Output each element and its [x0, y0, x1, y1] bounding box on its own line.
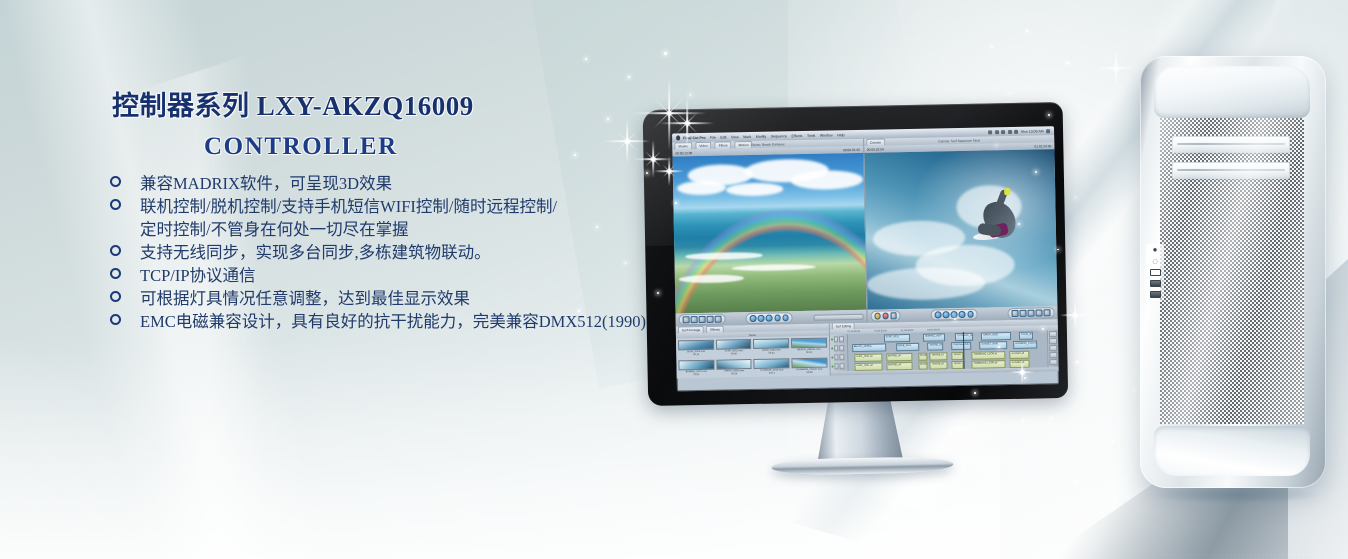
timeline-clip[interactable]: CUTBACK_0019 — [955, 333, 973, 341]
viewer-image-beach-rainbow — [672, 153, 865, 314]
menu-item-tools[interactable]: Tools — [807, 133, 815, 137]
grille-sheen — [1160, 118, 1304, 424]
clip-thumbnail[interactable] — [791, 338, 827, 349]
menu-item-file[interactable]: File — [710, 135, 716, 139]
record-button[interactable] — [882, 313, 889, 320]
track-lock-icon[interactable] — [834, 364, 839, 369]
list-item[interactable]: RAINBOW_COAST.mov 00:28 — [791, 358, 827, 377]
canvas-timecode-right[interactable]: 01:01:24:00 — [1034, 144, 1051, 148]
track-lock-icon[interactable] — [834, 346, 839, 351]
mac-pro-tower: ✹ ◌ — [1140, 56, 1326, 488]
viewer-edit-buttons[interactable] — [679, 314, 726, 325]
timeline-clip[interactable]: SURF_0031.aif — [854, 363, 882, 372]
timeline-clip[interactable]: SUNSET_0088 — [979, 341, 1007, 350]
timeline-clip[interactable]: SURF_0031 — [884, 334, 910, 342]
add-edit-button[interactable] — [1028, 310, 1035, 317]
list-item[interactable]: SURF_0012.mov 00:14 — [678, 340, 714, 359]
viewer-timecode-left[interactable]: 00:00:12:08 — [675, 151, 692, 155]
timeline-clip[interactable]: SHORE_0076 — [928, 342, 944, 350]
track-audible-icon[interactable] — [831, 356, 833, 358]
timeline-clip[interactable]: AMBIENCE_LOOP.aif — [972, 351, 1006, 360]
menu-item-view[interactable]: View — [731, 135, 739, 139]
track-target-icon[interactable] — [840, 355, 845, 360]
list-item[interactable]: SPRAY_0055.mov 00:06 — [716, 359, 752, 378]
list-item[interactable]: BEACH_AERIAL.mov 00:31 — [791, 338, 827, 357]
canvas-edit-buttons[interactable] — [1007, 307, 1054, 318]
menu-item-modify[interactable]: Modify — [756, 134, 767, 138]
airport-icon[interactable] — [1008, 129, 1012, 133]
menu-item-effects[interactable]: Effects — [791, 134, 802, 138]
clip-thumbnail[interactable] — [791, 358, 827, 369]
track-header-v2[interactable] — [830, 335, 847, 343]
monitor-stand-neck — [816, 399, 903, 463]
track-target-icon[interactable] — [840, 364, 845, 369]
viewer-pane: Viewer Video Filters Motion Viewer: Beac… — [672, 139, 866, 327]
bullet-circle-icon — [110, 176, 121, 187]
usb-icon[interactable] — [1150, 269, 1161, 276]
bullet-circle-icon — [110, 291, 121, 302]
timeline-clip[interactable]: WAVE — [918, 353, 928, 361]
bullet-circle-icon — [110, 314, 121, 325]
tab-viewer[interactable]: Viewer — [674, 142, 692, 149]
timeline-clip[interactable]: SUNSET.aif — [1010, 360, 1030, 368]
bluetooth-icon[interactable] — [988, 130, 992, 134]
previous-edit-button[interactable] — [750, 315, 757, 322]
clip-duration: 00:31 — [791, 351, 827, 355]
apple-logo-icon[interactable] — [676, 135, 680, 140]
mark-out-button[interactable] — [715, 316, 722, 323]
tower-front-grille — [1160, 118, 1304, 424]
audio-in-icon[interactable] — [1150, 291, 1161, 298]
canvas-playback-buttons[interactable] — [931, 309, 978, 320]
clip-thumbnail[interactable] — [716, 359, 752, 370]
ruler-mark: 01:00:00:00 — [848, 330, 861, 333]
timeline-clip[interactable]: FOAM_0042 — [1019, 332, 1033, 340]
headphone-icon[interactable] — [1150, 280, 1161, 287]
menu-item-edit[interactable]: Edit — [720, 135, 726, 139]
timeline-clip[interactable]: SPRAY — [952, 361, 964, 369]
add-edit-button[interactable] — [699, 316, 706, 323]
menu-item-help[interactable]: Help — [837, 133, 844, 137]
timeline-clip[interactable]: BARREL.aif — [886, 362, 912, 370]
menu-item-mark[interactable]: Mark — [743, 134, 751, 138]
track-lock-icon[interactable] — [834, 355, 839, 360]
clip-thumbnail[interactable] — [678, 340, 714, 351]
canvas-marker-buttons[interactable] — [870, 310, 901, 321]
mark-in-button[interactable] — [707, 316, 714, 323]
play-around-button[interactable] — [774, 315, 781, 322]
track-header-a1[interactable] — [830, 353, 847, 361]
mark-out-button[interactable] — [1044, 309, 1051, 316]
clip-thumbnail[interactable] — [792, 378, 828, 379]
bullet-circle-icon — [110, 199, 121, 210]
mark-in-button[interactable] — [1036, 310, 1043, 317]
usb-icon[interactable]: ◌ — [1151, 258, 1160, 265]
clip-thumbnail[interactable] — [678, 360, 714, 371]
browser-timeline-row: Surf Footage Effects Name SURF_0012.mov … — [676, 319, 1059, 378]
volume-icon[interactable] — [1001, 130, 1005, 134]
play-in-to-out-button[interactable] — [943, 311, 950, 318]
add-marker-button[interactable] — [874, 313, 881, 320]
timeline-clip[interactable]: BARREL.aif — [886, 353, 912, 361]
viewer-title: Viewer: Beach Rainbow — [751, 142, 785, 147]
viewer-playback-buttons[interactable] — [746, 312, 793, 323]
list-item[interactable]: BARREL_0007.mov 00:11 — [678, 360, 714, 379]
clip-overlays-toggle[interactable] — [1049, 338, 1057, 344]
track-header-gutter[interactable] — [830, 334, 849, 371]
tower-bottom-cap — [1154, 426, 1310, 476]
timeline-clip[interactable]: RAINBOW_COAST — [1013, 341, 1037, 349]
list-item[interactable]: SURF_0031.mov 00:09 — [716, 339, 752, 358]
canvas-image-surfer-wave — [864, 149, 1057, 310]
timeline-clip[interactable]: SUNSET.aif — [1009, 351, 1029, 359]
next-edit-button[interactable] — [967, 311, 974, 318]
play-button[interactable] — [951, 311, 958, 318]
clip-duration: 00:17 — [754, 371, 790, 375]
track-target-icon[interactable] — [839, 337, 844, 342]
linked-selection-toggle[interactable] — [1049, 352, 1057, 358]
sparkle-star-icon — [1096, 48, 1136, 88]
ruler-mark: 01:00:40:00 — [901, 329, 914, 332]
canvas-timecode-left[interactable]: 00:00:18:04 — [867, 147, 884, 151]
zoom-slider[interactable] — [1049, 331, 1057, 337]
snapping-toggle[interactable] — [1049, 359, 1057, 365]
timeline-clip[interactable]: SURF_0031.aif — [854, 354, 882, 363]
timeline-clip[interactable]: BEACH_AERIAL — [852, 343, 886, 352]
track-header-a2[interactable] — [830, 362, 847, 370]
clip-duration: 00:11 — [679, 373, 715, 377]
surfer-glove — [1004, 188, 1010, 195]
tab-canvas[interactable]: Canvas — [866, 138, 885, 145]
monitor-screen: Final Cut Pro File Edit View Mark Modify… — [672, 126, 1059, 391]
timeline-clip[interactable]: SPRAY — [952, 352, 964, 360]
track-header-v1[interactable] — [830, 344, 847, 352]
surfer-figure — [971, 187, 1029, 257]
tower-top-cap — [1154, 66, 1310, 118]
track-visible-icon[interactable] — [831, 338, 833, 340]
firewire-icon[interactable]: ✹ — [1151, 247, 1160, 254]
mark-clip-button[interactable] — [1020, 310, 1027, 317]
list-item[interactable]: WAVE_0104.mov 00:22 — [753, 338, 789, 357]
clip-duration: 00:09 — [716, 352, 752, 356]
viewer-canvas-row: Viewer Video Filters Motion Viewer: Beac… — [672, 135, 1057, 326]
monitor-bezel: Final Cut Pro File Edit View Mark Modify… — [643, 102, 1069, 406]
clip-duration: 00:06 — [716, 372, 752, 376]
clip-thumbnail[interactable] — [716, 339, 752, 350]
play-in-to-out-button[interactable] — [758, 315, 765, 322]
viewer-timecode-right[interactable]: 00:00:31:20 — [843, 147, 860, 151]
timeline-clip[interactable]: AMBIENCE_LOOP.aif — [972, 360, 1006, 369]
clip-duration: 00:22 — [754, 351, 790, 355]
track-height-toggle[interactable] — [1049, 345, 1057, 351]
timeline-clip[interactable]: SPRAY_0055 — [981, 332, 1011, 341]
tab-video[interactable]: Video — [695, 142, 712, 149]
next-edit-button[interactable] — [782, 314, 789, 321]
canvas-pane: Canvas Canvas: Surf Sequence Final 00:00… — [863, 135, 1058, 323]
menu-item-window[interactable]: Window — [820, 133, 833, 137]
list-item[interactable]: SUNSET_0088.mov 00:24 — [792, 378, 828, 379]
clip-duration: 00:28 — [792, 371, 828, 375]
track-target-icon[interactable] — [840, 346, 845, 351]
play-around-button[interactable] — [959, 311, 966, 318]
menu-item-sequence[interactable]: Sequence — [771, 134, 787, 138]
timeline-tool-strip[interactable] — [1047, 330, 1059, 367]
timeline-tracks[interactable]: SURF_0031 BARREL_0007 CUTBACK_0019 SPRAY… — [848, 330, 1048, 371]
display-monitor: Final Cut Pro File Edit View Mark Modify… — [632, 92, 1079, 480]
timeline-clip[interactable]: WAVE — [918, 362, 928, 370]
ruler-mark: 01:01:00:00 — [927, 328, 940, 331]
match-frame-button[interactable] — [683, 316, 690, 323]
timeline-clip[interactable]: PADDLE_0063 — [951, 342, 971, 350]
menu-bar-extras[interactable]: Mon 10:09 AM — [988, 129, 1052, 134]
time-machine-icon[interactable] — [995, 130, 999, 134]
match-frame-button[interactable] — [1012, 310, 1019, 317]
menu-bar-clock[interactable]: Mon 10:09 AM — [1021, 129, 1044, 133]
mark-clip-button[interactable] — [691, 316, 698, 323]
track-visible-icon[interactable] — [831, 347, 833, 349]
clip-duration: 00:14 — [678, 353, 714, 357]
canvas-title: Canvas: Surf Sequence Final — [938, 138, 980, 143]
tower-reflection — [1160, 548, 1310, 559]
browser-pane: Surf Footage Effects Name SURF_0012.mov … — [676, 324, 831, 379]
tower-shadow — [1150, 486, 1320, 504]
bullet-circle-icon — [110, 268, 121, 279]
edit-overlay-button[interactable] — [890, 312, 897, 319]
list-item[interactable]: CUTBACK_0019.mov 00:17 — [754, 358, 790, 377]
timeline-clip[interactable]: SHORE.aif — [930, 361, 948, 369]
ruler-mark: 01:00:20:00 — [874, 329, 887, 332]
bullet-circle-icon — [110, 245, 121, 256]
clip-thumbnail[interactable] — [753, 338, 789, 349]
play-button[interactable] — [766, 315, 773, 322]
menu-item-app[interactable]: Final Cut Pro — [683, 135, 705, 139]
timeline-clip[interactable]: BARREL_0007 — [923, 333, 945, 341]
track-lock-icon[interactable] — [834, 337, 839, 342]
battery-icon[interactable] — [1014, 129, 1018, 133]
viewer-scrubber[interactable] — [813, 313, 863, 320]
tower-front-ports[interactable]: ✹ ◌ — [1146, 244, 1164, 301]
previous-edit-button[interactable] — [935, 312, 942, 319]
product-banner: 控制器系列 LXY-AKZQ16009 CONTROLLER 兼容MADRIX软… — [0, 0, 1348, 559]
timeline-clip[interactable]: SHORE.aif — [930, 352, 948, 360]
timeline-body: SURF_0031 BARREL_0007 CUTBACK_0019 SPRAY… — [830, 330, 1059, 371]
tab-filters[interactable]: Filters — [715, 141, 732, 148]
timeline-clip[interactable]: WAVE_0104 — [896, 343, 920, 351]
track-audible-icon[interactable] — [831, 365, 833, 367]
timeline-pane: Surf Editing 01:00:00:00 01:00:20:00 01:… — [830, 319, 1059, 375]
search-icon[interactable] — [1046, 129, 1050, 133]
clip-thumbnail[interactable] — [754, 358, 790, 369]
clip-thumbnail-grid[interactable]: SURF_0012.mov 00:14 SURF_0031.mov 00:09 … — [676, 336, 830, 379]
monitor-stand-base — [771, 456, 953, 475]
